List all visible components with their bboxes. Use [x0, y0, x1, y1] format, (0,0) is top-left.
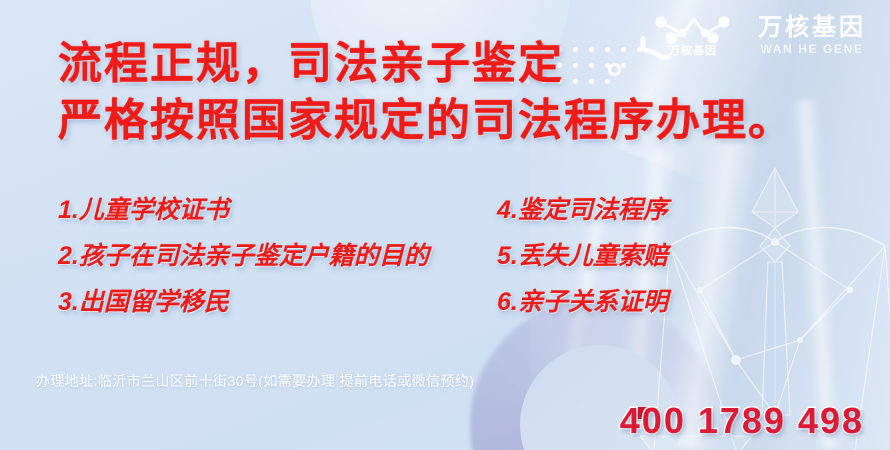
address-text: 办理地址:临沂市兰山区前十街30号(如需要办理 提前电话或微信预约): [36, 371, 474, 391]
phone-number[interactable]: 400 1789 498: [620, 400, 864, 442]
headline-line-1: 流程正规，司法亲子鉴定: [58, 36, 794, 91]
promo-banner: 万核基因 万核基因 WAN HE GENE 流程正规，司法亲子鉴定 严格按照国家…: [0, 0, 890, 450]
list-item: 6.亲子关系证明: [497, 290, 668, 315]
list-item: 3.出国留学移民: [58, 290, 429, 315]
list-item: 2.孩子在司法亲子鉴定户籍的目的: [58, 244, 429, 269]
service-list-left: 1.儿童学校证书 2.孩子在司法亲子鉴定户籍的目的 3.出国留学移民: [58, 198, 429, 336]
headline-line-2: 严格按照国家规定的司法程序办理。: [58, 93, 794, 148]
list-item: 1.儿童学校证书: [58, 198, 429, 223]
list-item: 4.鉴定司法程序: [497, 198, 668, 223]
service-list-right: 4.鉴定司法程序 5.丢失儿童索赔 6.亲子关系证明: [497, 198, 668, 336]
headline: 流程正规，司法亲子鉴定 严格按照国家规定的司法程序办理。: [58, 36, 794, 148]
list-item: 5.丢失儿童索赔: [497, 244, 668, 269]
